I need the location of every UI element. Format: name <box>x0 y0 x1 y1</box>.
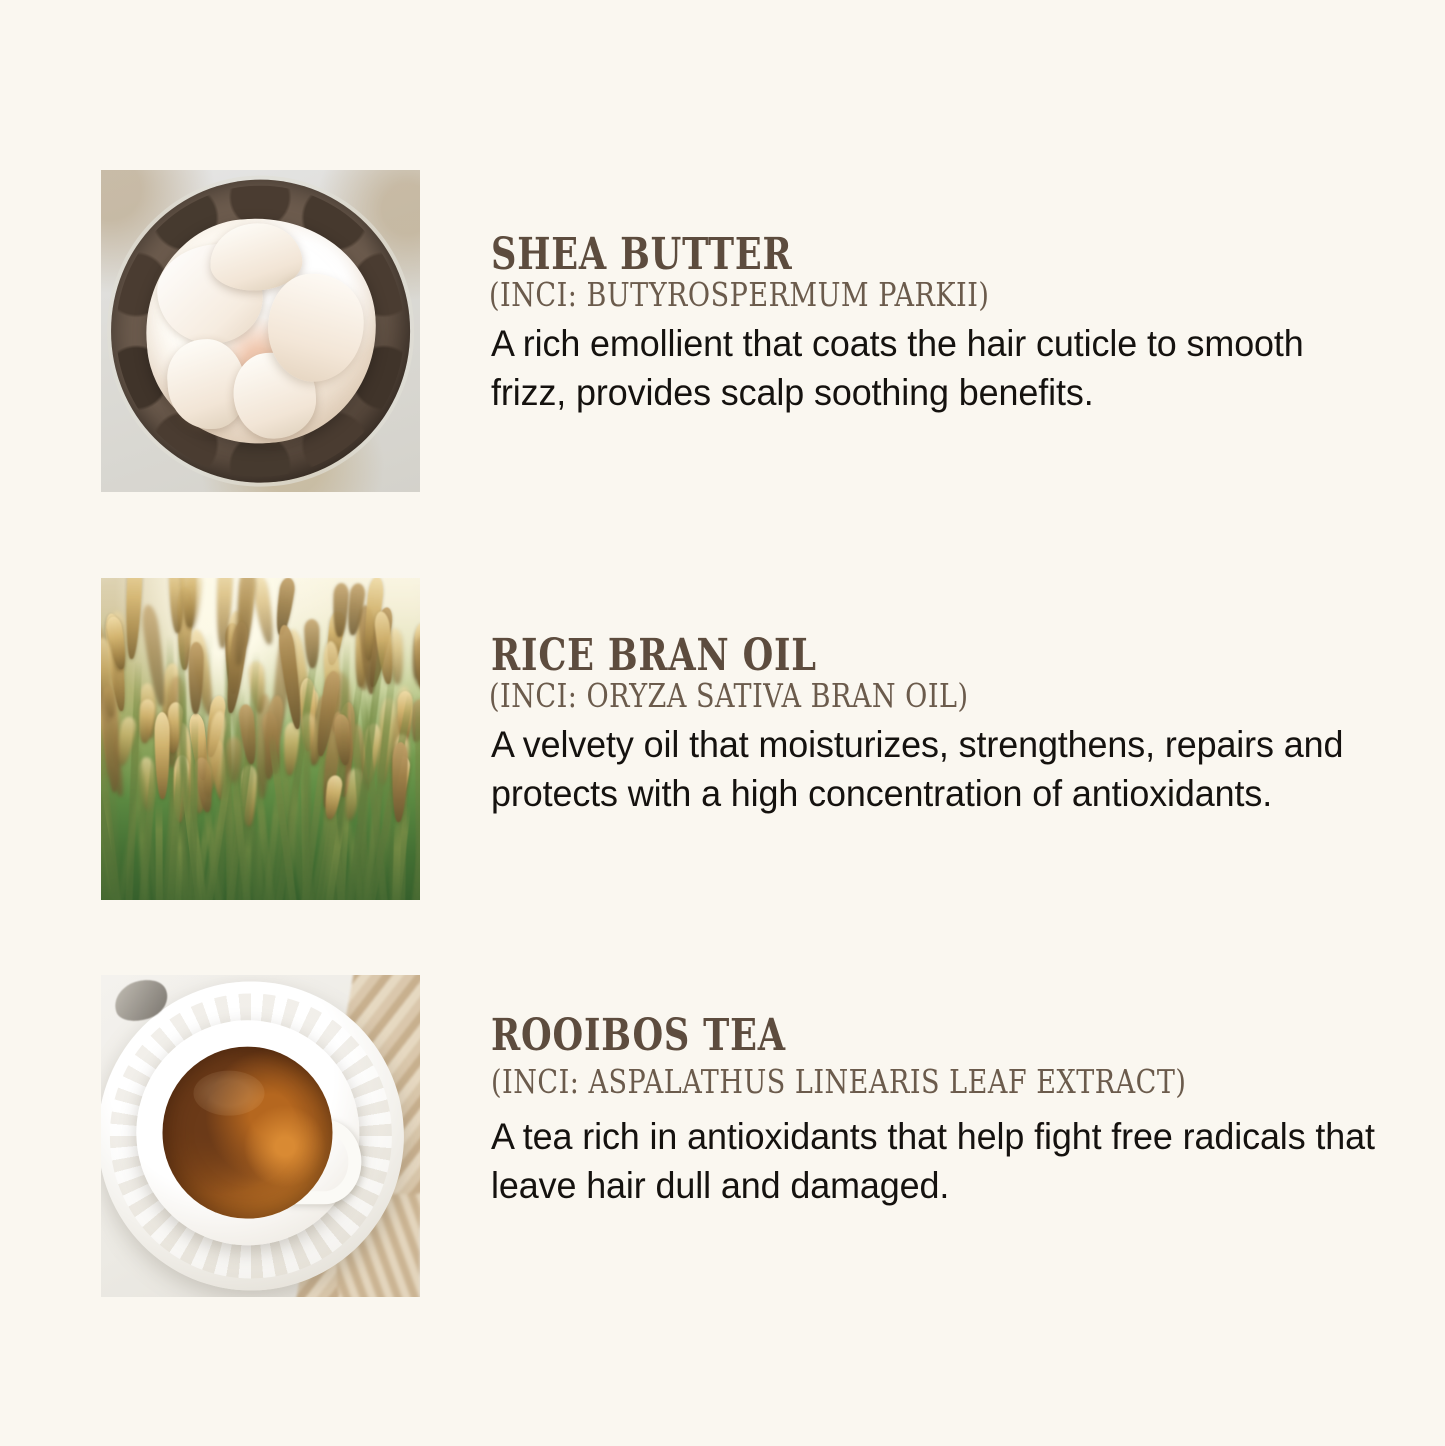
ingredient-text-rooibos-tea: ROOIBOS TEA (INCI: ASPALATHUS LINEARIS L… <box>491 975 1445 1211</box>
ingredient-name: RICE BRAN OIL <box>491 633 817 679</box>
ingredient-heading-rice-bran-oil: RICE BRAN OIL (INCI: ORYZA SATIVA BRAN O… <box>491 633 1405 713</box>
ingredient-text-shea-butter: SHEA BUTTER (INCI: BUTYROSPERMUM PARKII)… <box>491 170 1445 418</box>
grain-stalk <box>156 802 164 900</box>
ingredient-inci: (INCI: BUTYROSPERMUM PARKII) <box>489 278 989 312</box>
ingredients-infographic: SHEA BUTTER (INCI: BUTYROSPERMUM PARKII)… <box>0 0 1445 1446</box>
butter-chunk <box>230 350 318 441</box>
butter-chunk <box>207 220 303 294</box>
ingredient-heading-rooibos-tea: ROOIBOS TEA (INCI: ASPALATHUS LINEARIS L… <box>491 1013 1405 1099</box>
grain-seed-head <box>332 583 349 637</box>
ingredient-heading-shea-butter: SHEA BUTTER (INCI: BUTYROSPERMUM PARKII) <box>491 232 1405 312</box>
cup-shape <box>136 1020 359 1245</box>
ingredient-image-rice-bran-oil <box>101 578 420 900</box>
shea-butter-photo <box>101 170 420 492</box>
ingredient-image-rooibos-tea <box>101 975 420 1297</box>
tea-liquid <box>163 1047 333 1218</box>
rooibos-tea-photo <box>101 975 420 1297</box>
grain-field-photo <box>101 578 420 900</box>
ingredient-description: A tea rich in antioxidants that help fig… <box>491 1113 1378 1211</box>
grain-stalks <box>101 578 420 900</box>
ingredient-text-rice-bran-oil: RICE BRAN OIL (INCI: ORYZA SATIVA BRAN O… <box>491 578 1445 819</box>
ingredient-name: SHEA BUTTER <box>491 232 793 278</box>
ingredient-description: A rich emollient that coats the hair cut… <box>491 320 1364 418</box>
ingredient-block-rooibos-tea: ROOIBOS TEA (INCI: ASPALATHUS LINEARIS L… <box>0 975 1445 1297</box>
ingredient-inci: (INCI: ASPALATHUS LINEARIS LEAF EXTRACT) <box>491 1065 1240 1099</box>
ingredient-image-shea-butter <box>101 170 420 492</box>
ingredient-block-shea-butter: SHEA BUTTER (INCI: BUTYROSPERMUM PARKII)… <box>0 170 1445 492</box>
ingredient-name: ROOIBOS TEA <box>491 1013 1222 1059</box>
ingredient-block-rice-bran-oil: RICE BRAN OIL (INCI: ORYZA SATIVA BRAN O… <box>0 578 1445 900</box>
ingredient-inci: (INCI: ORYZA SATIVA BRAN OIL) <box>489 679 969 713</box>
grain-seed-head <box>137 699 156 744</box>
ingredient-description: A velvety oil that moisturizes, strength… <box>491 721 1345 819</box>
grain-seed-head <box>124 578 143 658</box>
